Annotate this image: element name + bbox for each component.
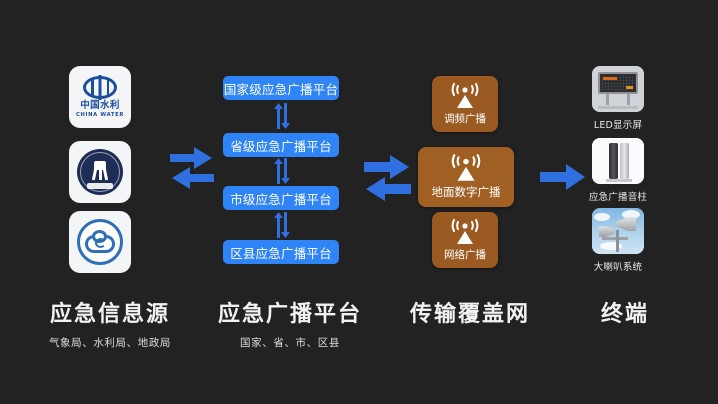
speaker-column-icon xyxy=(592,138,644,184)
platform-box-provincial[interactable]: 省级应急广播平台 xyxy=(223,133,339,157)
loudspeaker-system-icon xyxy=(592,208,644,254)
caption-title-transmission: 传输覆盖网 xyxy=(370,296,570,328)
led-billboard-icon xyxy=(592,66,644,112)
china-earthquake-administration-logo-icon xyxy=(77,149,123,195)
china-water-logo-icon xyxy=(83,76,117,99)
diagram-canvas: 中国水利 CHINA WATER 国家级应急广播平台 省级应急广播平台 市级应急… xyxy=(0,0,718,404)
terminal-loudspeaker-system[interactable]: 大喇叭系统 xyxy=(592,208,644,273)
terminal-label-loudspeaker-system: 大喇叭系统 xyxy=(584,259,652,273)
terminal-label-led-display: LED显示屏 xyxy=(584,117,652,131)
caption-title-terminals: 终端 xyxy=(545,296,705,328)
flow-arrow-platforms-to-transmission xyxy=(362,152,414,206)
source-logo-china-meteorological xyxy=(69,211,131,273)
platform-box-municipal[interactable]: 市级应急广播平台 xyxy=(223,186,339,210)
column-caption-platforms: 应急广播平台 国家、省、市、区县 xyxy=(180,296,400,350)
up-down-arrow-icon xyxy=(274,103,290,129)
transmission-label-terrestrial-digital: 地面数字广播 xyxy=(432,184,501,200)
platform-box-district[interactable]: 区县应急广播平台 xyxy=(223,240,339,264)
up-down-arrow-icon xyxy=(274,212,290,238)
china-meteorological-administration-logo-icon xyxy=(77,219,123,265)
platform-box-national[interactable]: 国家级应急广播平台 xyxy=(223,76,339,100)
transmission-label-fm: 调频广播 xyxy=(444,111,486,126)
terminal-speaker-column[interactable]: 应急广播音柱 xyxy=(592,138,644,203)
column-caption-terminals: 终端 xyxy=(545,296,705,335)
china-water-logo-cn: 中国水利 xyxy=(80,100,120,111)
flow-arrow-transmission-to-terminals xyxy=(538,160,588,194)
caption-title-platforms: 应急广播平台 xyxy=(180,296,400,328)
terminal-led-display[interactable]: LED显示屏 xyxy=(592,66,644,131)
caption-subtitle-platforms: 国家、省、市、区县 xyxy=(180,335,400,350)
transmission-box-fm[interactable]: 调频广播 xyxy=(432,76,498,132)
transmission-box-terrestrial-digital[interactable]: 地面数字广播 xyxy=(418,147,514,207)
broadcast-tower-icon xyxy=(450,83,480,109)
transmission-box-network[interactable]: 网络广播 xyxy=(432,212,498,268)
source-logo-china-water: 中国水利 CHINA WATER xyxy=(69,66,131,128)
broadcast-tower-icon xyxy=(450,219,480,245)
up-down-arrow-icon xyxy=(274,158,290,184)
broadcast-tower-icon xyxy=(450,154,482,182)
source-logo-china-earthquake xyxy=(69,141,131,203)
transmission-label-network: 网络广播 xyxy=(444,247,486,262)
terminal-label-speaker-column: 应急广播音柱 xyxy=(584,189,652,203)
flow-arrow-sources-to-platforms xyxy=(168,140,216,196)
china-water-logo-en: CHINA WATER xyxy=(76,112,124,119)
column-caption-transmission: 传输覆盖网 xyxy=(370,296,570,335)
